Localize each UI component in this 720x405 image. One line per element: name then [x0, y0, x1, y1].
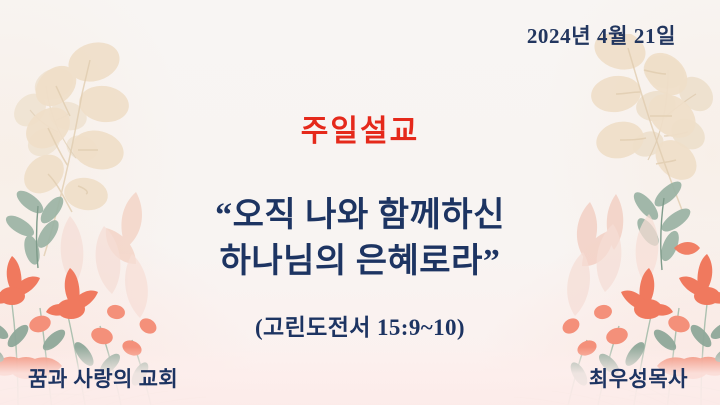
sermon-type-label: 주일설교	[0, 106, 720, 150]
sermon-slide: 2024년 4월 21일 주일설교 “오직 나와 함께하신 하나님의 은혜로라”…	[0, 0, 720, 405]
sermon-title-line-2: 하나님의 은혜로라”	[0, 239, 720, 285]
church-name: 꿈과 사랑의 교회	[28, 363, 178, 393]
sermon-title-line-1: “오직 나와 함께하신	[0, 193, 720, 239]
scripture-reference: (고린도전서 15:9~10)	[0, 308, 720, 342]
sermon-date: 2024년 4월 21일	[527, 20, 676, 50]
pastor-name: 최우성목사	[589, 363, 688, 393]
sermon-title: “오직 나와 함께하신 하나님의 은혜로라”	[0, 193, 720, 285]
